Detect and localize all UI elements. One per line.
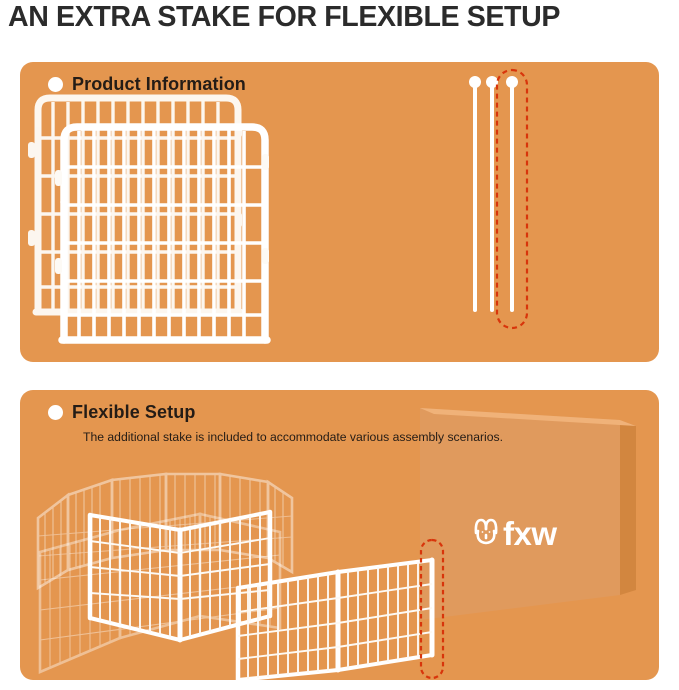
panel-subtitle-flexible-setup: The additional stake is included to acco… <box>83 430 503 444</box>
stake-1 <box>469 76 481 310</box>
product-infographic-page: AN EXTRA STAKE FOR FLEXIBLE SETUP <box>0 0 679 690</box>
pen-front-panels <box>238 560 432 680</box>
product-information-artwork <box>20 62 659 362</box>
stake-3-highlighted <box>506 76 518 310</box>
product-information-illustration <box>20 62 659 362</box>
panel-flexible-setup: fxw <box>20 390 659 680</box>
panel-product-information-header: Product Information <box>48 74 246 95</box>
bullet-dot-icon <box>48 77 63 92</box>
panel-product-information: Product Information <box>20 62 659 362</box>
bullet-dot-icon <box>48 405 63 420</box>
stake-group <box>469 70 527 328</box>
octagon-playpen-figure <box>38 474 292 640</box>
page-title: AN EXTRA STAKE FOR FLEXIBLE SETUP <box>8 2 663 32</box>
panel-flexible-setup-header: Flexible Setup <box>48 402 195 423</box>
fxw-wordmark: fxw <box>503 515 557 552</box>
panel-title-product-information: Product Information <box>72 74 246 95</box>
panel-title-flexible-setup: Flexible Setup <box>72 402 195 423</box>
